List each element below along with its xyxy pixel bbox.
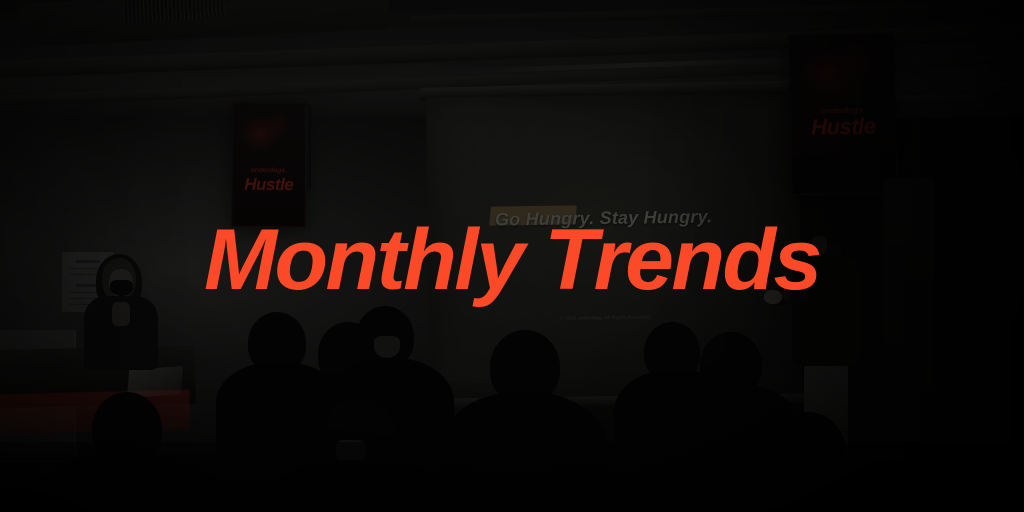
banner-big-text: Hustle: [791, 113, 896, 141]
banner-artwork: [796, 41, 879, 115]
banner-pole: [305, 105, 311, 191]
hanging-banner-left: underdogs. Hustle: [231, 103, 306, 228]
pa-speaker-cabinet: [884, 178, 934, 418]
face-mask: [110, 280, 133, 296]
screenshot-root: Go Hungry. Stay Hungry. © 2022 underdogs…: [0, 0, 1024, 512]
attendant-shirt: [112, 302, 130, 326]
attendant-silhouette: [82, 258, 160, 368]
hanging-banner-right: underdogs. Hustle: [788, 33, 897, 195]
page-title: Monthly Trends: [204, 217, 820, 303]
foreground-shadow: [0, 442, 1024, 512]
banner-big-text: Hustle: [233, 174, 305, 195]
audience-face-mask: [374, 336, 400, 358]
banner-artwork: [237, 109, 294, 166]
ceiling-beam: [410, 0, 1024, 25]
